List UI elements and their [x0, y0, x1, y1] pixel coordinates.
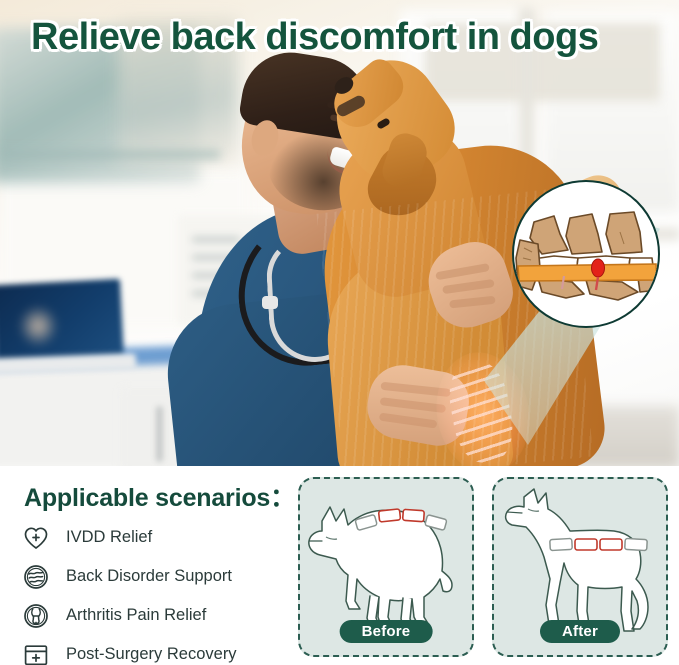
product-infographic: Relieve back discomfort in dogs Applicab… [0, 0, 679, 665]
spine-anatomy-illustration [514, 182, 660, 328]
page-title: Relieve back discomfort in dogs [31, 16, 598, 59]
status-badge: After [540, 620, 620, 643]
list-item[interactable]: Post-Surgery Recovery [22, 635, 290, 665]
bottom-section: Applicable scenarios： IVDD Relief [0, 466, 679, 665]
heart-plus-icon [22, 524, 50, 552]
list-item-label: Post-Surgery Recovery [66, 645, 237, 664]
comparison-panel-after[interactable]: After [492, 477, 668, 657]
list-item-label: Back Disorder Support [66, 567, 232, 586]
status-badge: Before [340, 620, 433, 643]
scenario-list: IVDD Relief Back Disorder Support [22, 518, 290, 665]
cabinet-handle-left [156, 406, 163, 462]
spine-anatomy-circle [512, 180, 660, 328]
list-item-label: Arthritis Pain Relief [66, 606, 206, 625]
spine-circle-icon [22, 563, 50, 591]
laptop-screen [0, 279, 124, 364]
comparison-panel-before[interactable]: Before [298, 477, 474, 657]
hero-photo: Relieve back discomfort in dogs [0, 0, 679, 466]
first-aid-kit-icon [22, 641, 50, 665]
joint-bone-circle-icon [22, 602, 50, 630]
list-item-label: IVDD Relief [66, 528, 152, 547]
list-item[interactable]: Back Disorder Support [22, 557, 290, 596]
stethoscope-clip-left [262, 296, 278, 309]
applicable-scenarios-heading: Applicable scenarios： [24, 478, 295, 514]
cabinet-shelf-line [0, 150, 220, 159]
list-item[interactable]: IVDD Relief [22, 518, 290, 557]
list-item[interactable]: Arthritis Pain Relief [22, 596, 290, 635]
